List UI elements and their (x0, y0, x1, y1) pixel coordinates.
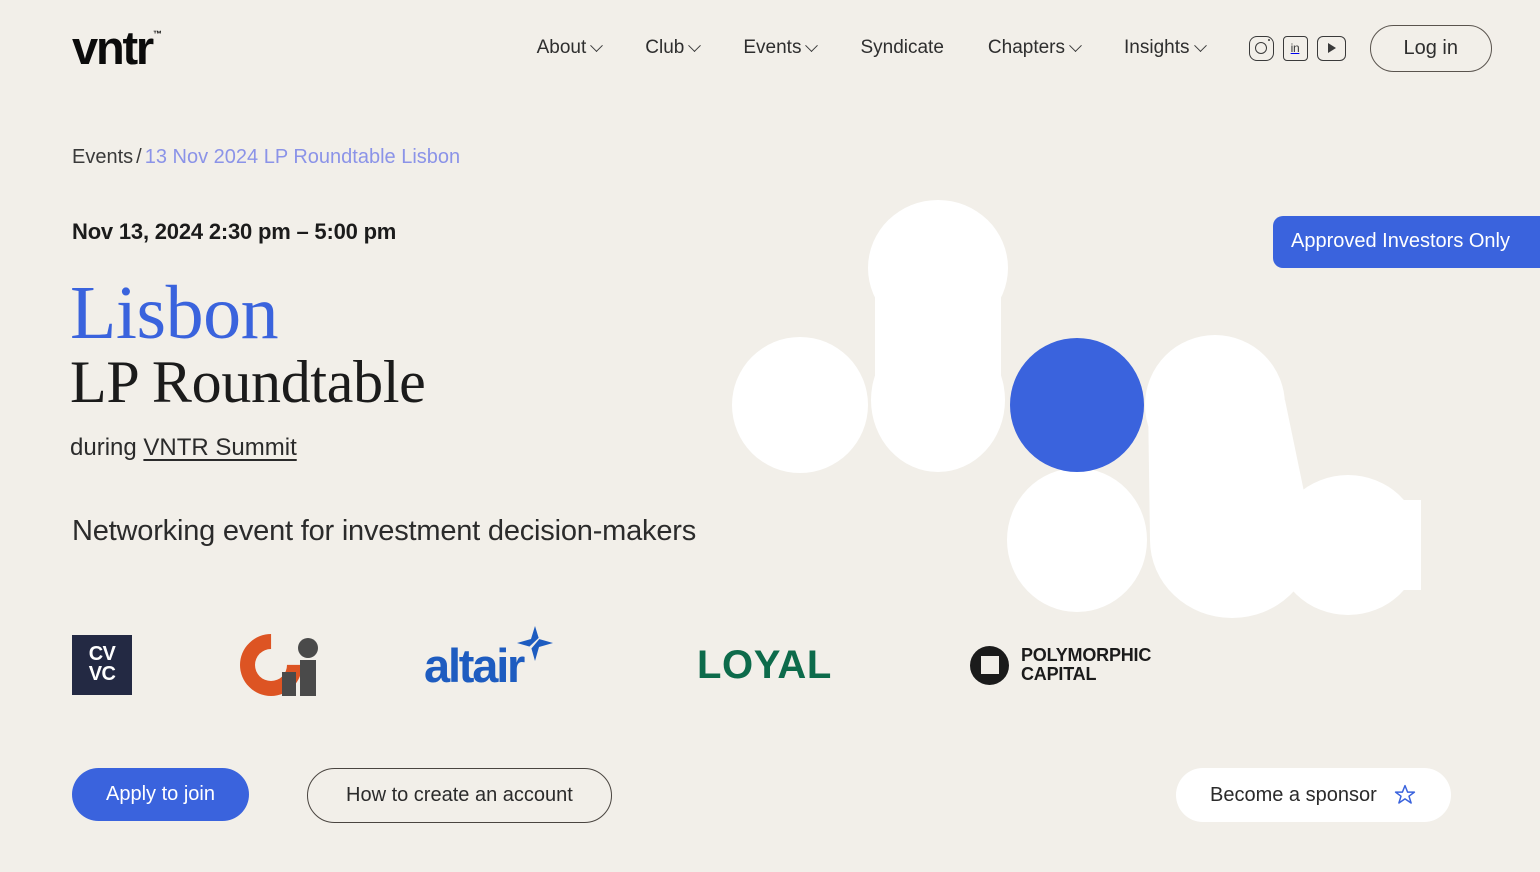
nav-item-chapters[interactable]: Chapters (966, 29, 1102, 67)
trademark-symbol: ™ (153, 30, 162, 39)
sponsor-logo-qi[interactable] (240, 620, 322, 710)
main-content: Events/13 Nov 2024 LP Roundtable Lisbon … (0, 0, 1540, 872)
qi-bar-small (282, 672, 296, 696)
title-during: during VNTR Summit (70, 434, 426, 462)
nav-item-events[interactable]: Events (721, 29, 838, 67)
nav-label: Syndicate (860, 37, 943, 59)
vntr-summit-link[interactable]: VNTR Summit (143, 434, 296, 461)
breadcrumb-root[interactable]: Events (72, 146, 133, 168)
brand-wordmark: vntr (72, 27, 152, 69)
instagram-icon[interactable] (1249, 36, 1274, 61)
event-datetime: Nov 13, 2024 2:30 pm – 5:00 pm (72, 219, 396, 245)
polymorphic-line-1: POLYMORPHIC (1021, 646, 1151, 665)
brand-logo[interactable]: vntr ™ (72, 27, 162, 69)
social-links: in (1249, 36, 1346, 61)
altair-mark: altair (424, 642, 523, 689)
breadcrumb-current[interactable]: 13 Nov 2024 LP Roundtable Lisbon (145, 146, 460, 168)
event-tagline: Networking event for investment decision… (72, 515, 696, 548)
chevron-down-icon (590, 39, 603, 52)
cvvc-mark: CV VC (72, 635, 132, 695)
breadcrumb: Events/13 Nov 2024 LP Roundtable Lisbon (72, 146, 460, 169)
nav-label: Events (743, 37, 801, 59)
sponsor-logo-row: CV VC altair LOYAL (72, 620, 1252, 710)
apply-to-join-button[interactable]: Apply to join (72, 768, 249, 821)
breadcrumb-separator: / (136, 146, 142, 168)
page-title: Lisbon LP Roundtable during VNTR Summit (70, 275, 426, 462)
qi-bar-tall (300, 660, 316, 696)
polymorphic-wordmark: POLYMORPHIC CAPITAL (1021, 646, 1151, 684)
altair-wordmark: altair (424, 642, 523, 689)
title-city: Lisbon (70, 275, 426, 353)
linkedin-icon[interactable]: in (1283, 36, 1308, 61)
become-a-sponsor-button[interactable]: Become a sponsor (1176, 768, 1451, 822)
play-triangle-glyph (1328, 43, 1336, 53)
site-header: vntr ™ About Club Events Syndicate Chapt… (0, 0, 1540, 96)
title-kind: LP Roundtable (70, 349, 426, 416)
nav-label: Insights (1124, 37, 1189, 59)
nav-item-syndicate[interactable]: Syndicate (838, 29, 965, 67)
chevron-down-icon (688, 39, 701, 52)
youtube-icon[interactable] (1317, 36, 1346, 61)
cvvc-line-2: VC (89, 665, 116, 685)
polymorphic-line-2: CAPITAL (1021, 665, 1151, 684)
how-to-create-account-button[interactable]: How to create an account (307, 768, 612, 823)
chevron-down-icon (806, 39, 819, 52)
main-navigation: About Club Events Syndicate Chapters Ins… (515, 29, 1227, 67)
chevron-down-icon (1194, 39, 1207, 52)
polymorphic-square-cutout (981, 656, 999, 674)
become-a-sponsor-label: Become a sponsor (1210, 784, 1377, 807)
loyal-wordmark: LOYAL (697, 645, 832, 685)
instagram-glyph (1255, 42, 1267, 54)
star-icon (1393, 783, 1417, 807)
polymorphic-circle-icon (970, 646, 1009, 685)
nav-item-club[interactable]: Club (623, 29, 721, 67)
during-prefix: during (70, 434, 137, 461)
nav-item-about[interactable]: About (515, 29, 624, 67)
sponsor-logo-cvvc[interactable]: CV VC (72, 620, 132, 710)
nav-item-insights[interactable]: Insights (1102, 29, 1226, 67)
nav-label: Club (645, 37, 684, 59)
qi-mark (240, 634, 322, 696)
sponsor-logo-altair[interactable]: altair (424, 620, 523, 710)
polymorphic-mark: POLYMORPHIC CAPITAL (970, 646, 1151, 685)
sponsor-logo-loyal[interactable]: LOYAL (697, 620, 832, 710)
altair-star-icon (515, 624, 555, 664)
accent-circle (1010, 338, 1144, 472)
status-badge: Approved Investors Only (1273, 216, 1540, 268)
sponsor-logo-polymorphic[interactable]: POLYMORPHIC CAPITAL (970, 620, 1151, 710)
nav-label: Chapters (988, 37, 1065, 59)
chevron-down-icon (1069, 39, 1082, 52)
nav-label: About (537, 37, 587, 59)
linkedin-glyph: in (1291, 42, 1300, 54)
qi-dot-glyph (298, 638, 318, 658)
login-button[interactable]: Log in (1370, 25, 1493, 72)
